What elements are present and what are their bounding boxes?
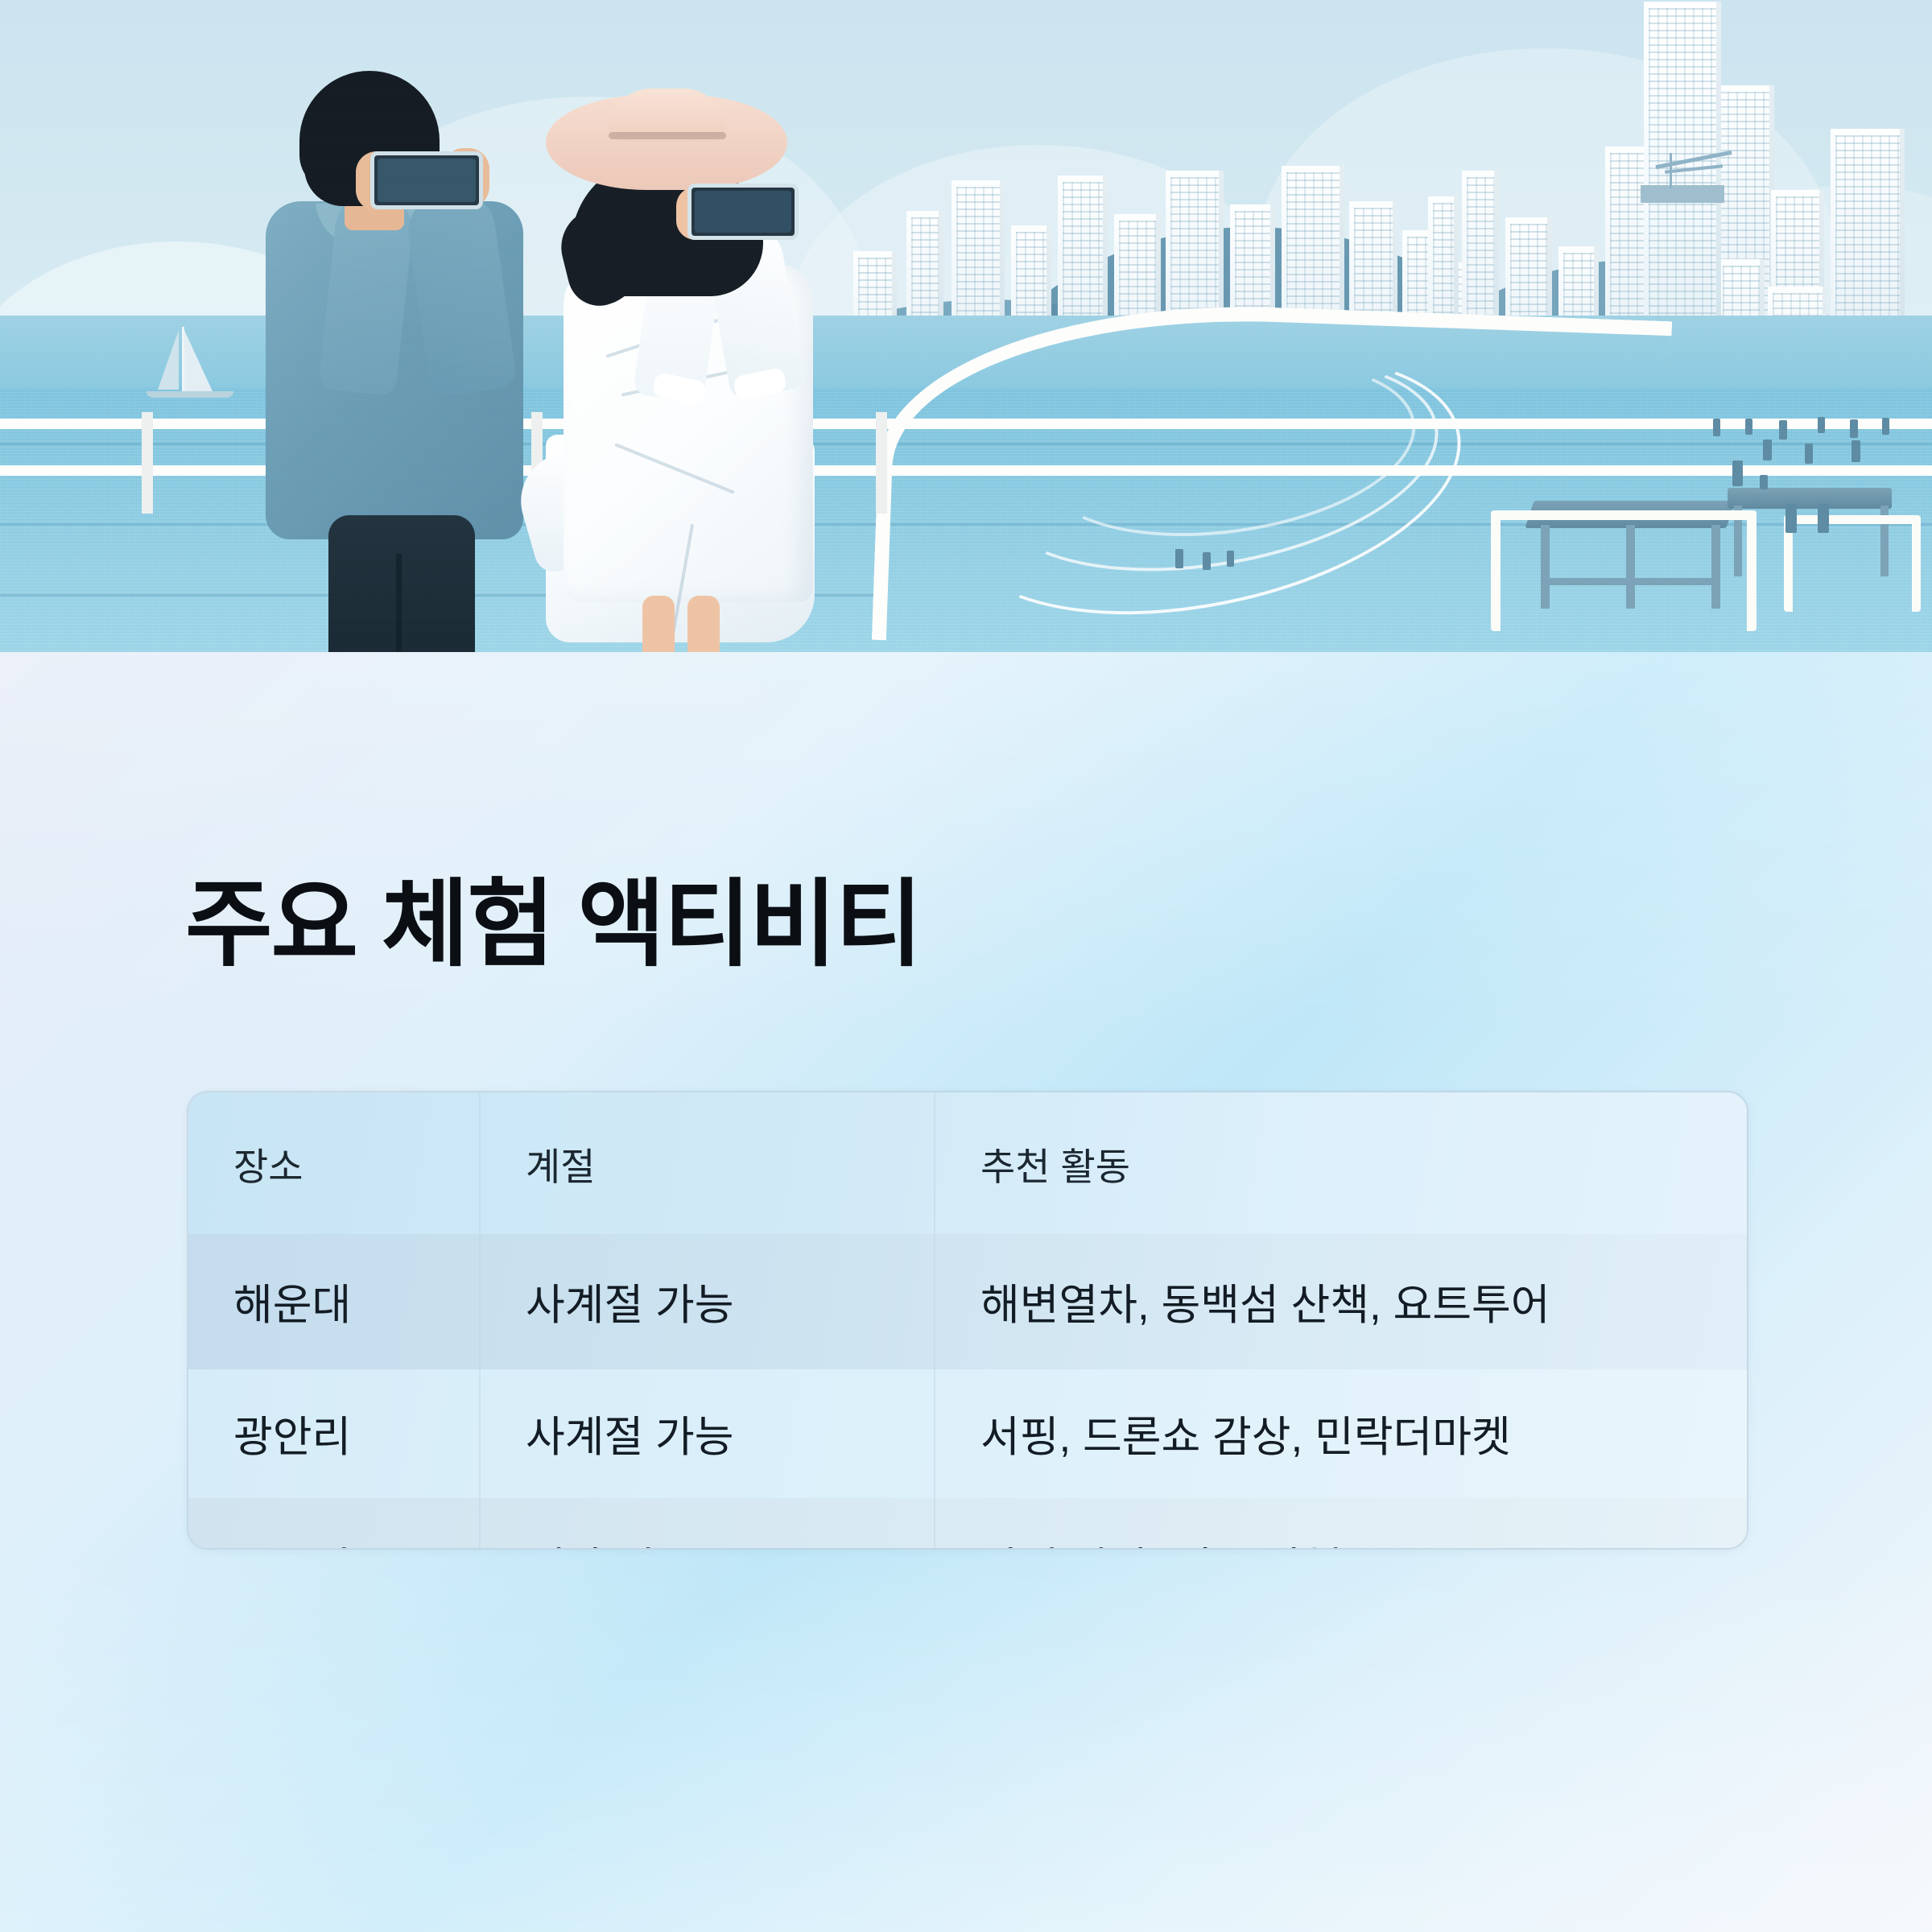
beach-figure — [1745, 419, 1752, 435]
table-row: 공통점 해안 경로 야경 감상, 커플 산책, 포토존 — [188, 1498, 1747, 1550]
beach-figure — [1227, 551, 1234, 567]
column-header-place: 장소 — [188, 1092, 481, 1234]
cell-activities: 해변열차, 동백섬 산책, 요트투어 — [935, 1234, 1747, 1369]
table-row: 광안리 사계절 가능 서핑, 드론쇼 감상, 민락더마켓 — [188, 1369, 1747, 1498]
beach-figure — [1818, 504, 1829, 533]
page-title: 주요 체험 액티비티 — [185, 877, 921, 972]
white-frame-structure — [1491, 510, 1757, 631]
table-row: 해운대 사계절 가능 해변열차, 동백섬 산책, 요트투어 — [188, 1234, 1747, 1369]
cell-activities: 서핑, 드론쇼 감상, 민락더마켓 — [935, 1369, 1747, 1498]
white-frame-structure — [1784, 515, 1921, 612]
beach-figure — [1805, 444, 1813, 464]
column-header-activities: 추천 활동 — [935, 1092, 1747, 1234]
beach-figure — [1785, 504, 1797, 533]
beach-figure — [1882, 418, 1889, 435]
content-panel: 주요 체험 액티비티 장소 계절 추천 활동 해운대 사계절 가능 해변열차, … — [0, 652, 1932, 1932]
cell-activities: 야경 감상, 커플 산책, 포토존 — [935, 1498, 1747, 1550]
smartphone-icon — [370, 151, 483, 209]
beach-figure — [1818, 417, 1825, 433]
poster-page: 주요 체험 액티비티 장소 계절 추천 활동 해운대 사계절 가능 해변열차, … — [0, 0, 1932, 1932]
smartphone-icon — [687, 184, 799, 240]
beach-figure — [1732, 460, 1743, 486]
beach-figure — [1779, 420, 1787, 440]
beach-figure — [1763, 440, 1772, 460]
activities-table: 장소 계절 추천 활동 해운대 사계절 가능 해변열차, 동백섬 산책, 요트투… — [187, 1091, 1748, 1550]
woman-photographer — [515, 89, 853, 654]
table-header-row: 장소 계절 추천 활동 — [188, 1092, 1747, 1234]
beach-figure — [1713, 419, 1720, 436]
cell-place: 해운대 — [188, 1234, 481, 1369]
sailboat-icon — [142, 327, 238, 406]
hero-illustration — [0, 0, 1932, 654]
column-header-season: 계절 — [481, 1092, 935, 1234]
beach-figure — [1175, 549, 1183, 568]
beach-figure — [1203, 552, 1211, 570]
cell-season: 사계절 가능 — [481, 1234, 935, 1369]
cell-place: 광안리 — [188, 1369, 481, 1498]
cell-season: 해안 경로 — [481, 1498, 935, 1550]
cell-season: 사계절 가능 — [481, 1369, 935, 1498]
beach-figure — [1850, 419, 1858, 438]
cell-place: 공통점 — [188, 1498, 481, 1550]
beach-figure — [1851, 440, 1860, 462]
beach-figure — [1760, 475, 1768, 489]
